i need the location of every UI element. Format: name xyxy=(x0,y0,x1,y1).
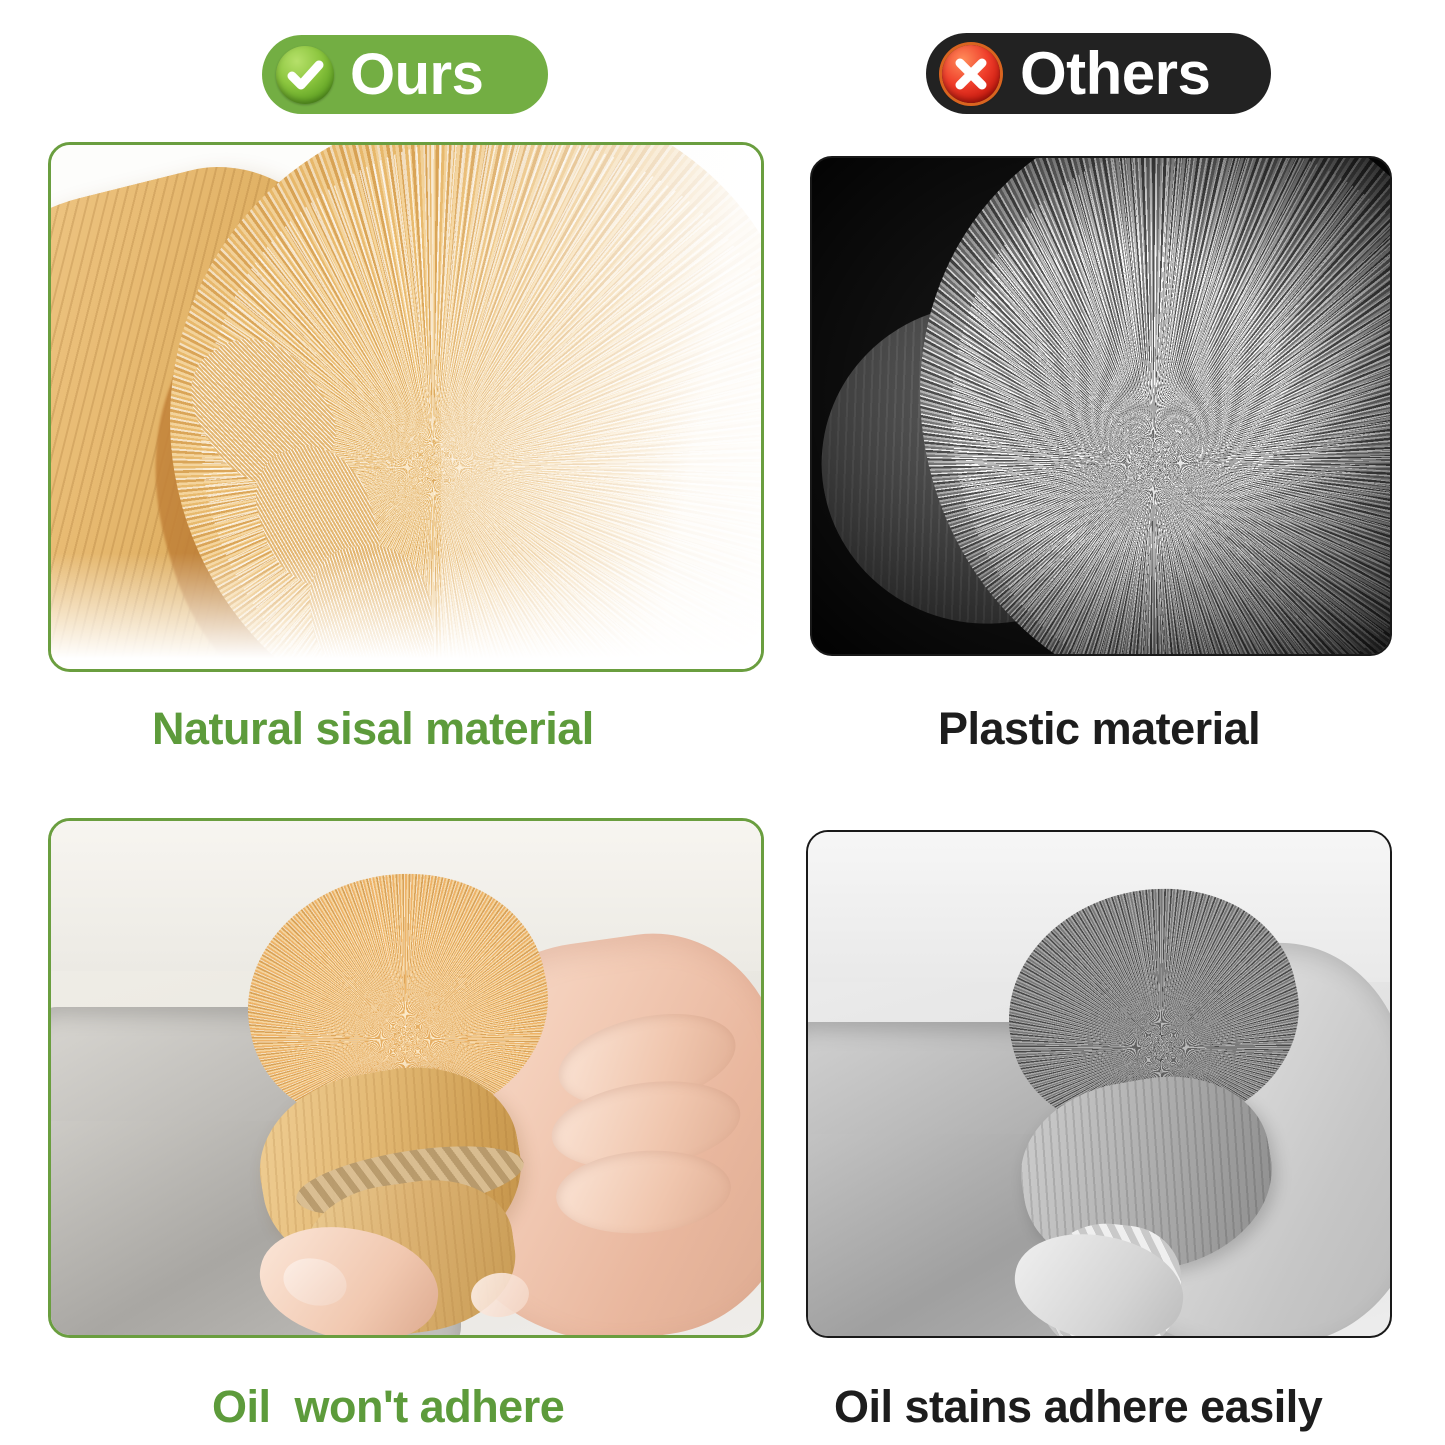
badge-ours: Ours xyxy=(262,35,548,114)
check-circle-icon xyxy=(276,46,334,104)
badge-others: Others xyxy=(926,33,1271,114)
badge-ours-label: Ours xyxy=(350,46,483,104)
photo-plastic-brush-in-hand xyxy=(808,832,1390,1336)
panel-bottom-right xyxy=(806,830,1392,1338)
panel-top-right xyxy=(810,156,1392,656)
photo-bamboo-brush-in-hand xyxy=(51,821,761,1335)
caption-top-right: Plastic material xyxy=(938,703,1260,755)
comparison-infographic: Ours Others xyxy=(0,0,1445,1445)
caption-bottom-left: Oil won't adhere xyxy=(212,1381,564,1433)
panel-top-left xyxy=(48,142,764,672)
caption-top-left: Natural sisal material xyxy=(152,703,594,755)
x-circle-icon xyxy=(942,45,1000,103)
panel-bottom-left xyxy=(48,818,764,1338)
caption-bottom-right: Oil stains adhere easily xyxy=(834,1381,1322,1433)
photo-plastic-bristles-macro xyxy=(812,158,1390,654)
photo-natural-sisal-macro xyxy=(51,145,761,669)
badge-others-label: Others xyxy=(1020,45,1210,103)
